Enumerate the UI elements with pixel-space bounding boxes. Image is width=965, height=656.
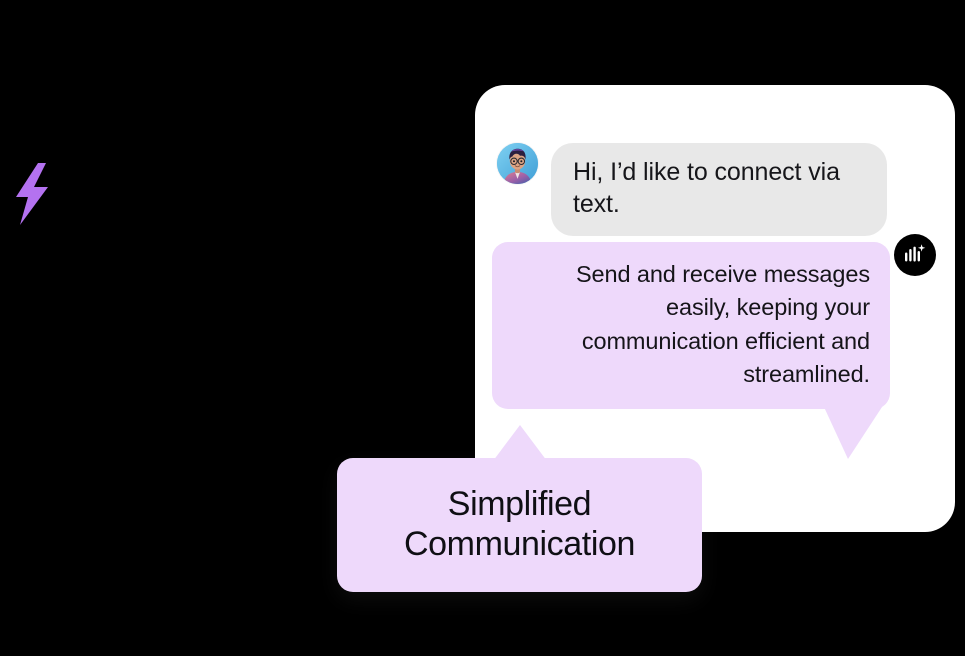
caption-line-2: Communication bbox=[361, 524, 678, 564]
bubble-tail-down bbox=[824, 407, 882, 459]
message-row-outgoing: Send and receive messages easily, keepin… bbox=[492, 242, 890, 409]
caption-box: Simplified Communication bbox=[337, 458, 702, 592]
message-row-incoming: Hi, I’d like to connect via text. bbox=[497, 143, 887, 236]
caption-line-1: Simplified bbox=[361, 484, 678, 524]
avatar bbox=[497, 143, 538, 184]
caption-tail-up bbox=[493, 425, 547, 461]
message-bubble-outgoing: Send and receive messages easily, keepin… bbox=[492, 242, 890, 409]
scene-root: Hi, I’d like to connect via text. Send a… bbox=[0, 0, 965, 656]
message-bubble-incoming: Hi, I’d like to connect via text. bbox=[551, 143, 887, 236]
lightning-bolt-icon bbox=[8, 163, 54, 225]
ai-sparkle-badge[interactable] bbox=[894, 234, 936, 276]
